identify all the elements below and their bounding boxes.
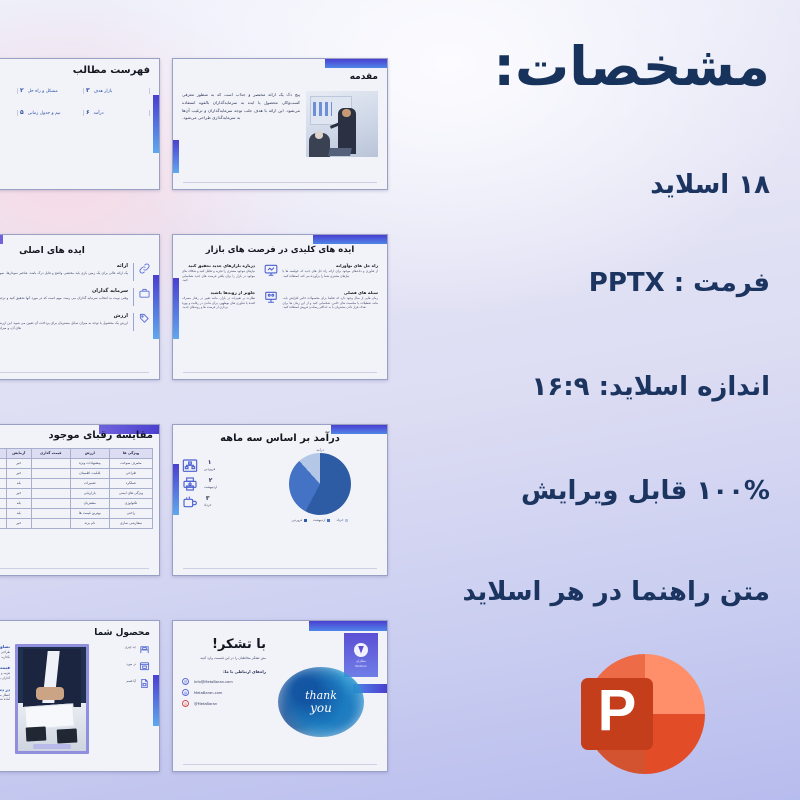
table-cell: کم xyxy=(0,498,6,508)
table-cell xyxy=(31,498,70,508)
table-cell: خیر xyxy=(6,489,31,499)
legend-entry: فروردین xyxy=(292,518,307,522)
item-text: نیازهای موجود مشتری را تجزیه و تحلیل کنی… xyxy=(182,269,255,283)
slide-thumbnail-your-product[interactable]: محصول شما چه چیزی xyxy=(0,620,160,772)
watercolor-splash: thank you xyxy=(278,667,364,737)
table-cell: راحتی xyxy=(109,508,152,518)
contact-label: راه‌های ارتباطی با ما: xyxy=(182,669,266,674)
table-cell xyxy=(31,489,70,499)
table-header-cell: نمایشگی xyxy=(0,449,6,459)
table-row: طراحیقابلیت اطمینانخیرکم۱۵% xyxy=(0,469,153,479)
table-row: سفارشی سازینام برندخیرکم۱۵% xyxy=(0,518,153,528)
item-text: انتظار می رود محصول چه زمانی آماده شود؟ xyxy=(0,693,10,702)
main-idea-item: ارزش ارزش یک محصول با توجه به میزان تمای… xyxy=(0,313,150,331)
logo-title: متاباران xyxy=(356,659,366,663)
table-row: مصرف سوختپیشنهادات ویژهخیرکم۱۸% xyxy=(0,459,153,469)
table-cell xyxy=(31,469,70,479)
toc-label: تیم و جدول زمانی xyxy=(28,110,61,116)
legend-entry: اردیبهشت xyxy=(313,518,330,522)
specs-panel: مشخصات: ۱۸ اسلاید فرمت : PPTX اندازه اسل… xyxy=(330,40,770,605)
table-header-cell: ویژگی ها xyxy=(109,449,152,459)
slide-thumbnail-competitor-comparison[interactable]: مقایسه رقبای موجود ویژگی ها ارزش قیمت گذ… xyxy=(0,424,160,576)
table-cell: مشتریان xyxy=(70,498,109,508)
table-cell: خیر xyxy=(6,469,31,479)
contact-text: MetaBaran.com xyxy=(194,691,222,695)
spec-format: فرمت : PPTX xyxy=(330,270,770,296)
table-cell: خیر xyxy=(6,518,31,528)
table-cell: بله xyxy=(6,479,31,489)
slide-title: با تشکر! xyxy=(182,637,266,652)
product-right-column: تصاویر طراحی محصول خود را به نمایش بگذار… xyxy=(0,644,10,708)
item-heading: ارائه xyxy=(0,263,128,269)
table-cell: بله xyxy=(6,508,31,518)
market-item: جلوتر از روندها باشید نظارت بر تغییرات د… xyxy=(182,290,278,310)
list-item: ۳ خرداد xyxy=(182,494,254,508)
item-heading: تصاویر xyxy=(0,644,10,649)
screenshot-root: فهرست مطالب بازار هدف ۳ مشکل و راه حل ۲ … xyxy=(0,0,800,800)
table-header-row: ویژگی ها ارزش قیمت گذاری آزمایش نمایشگی … xyxy=(0,449,153,459)
table-cell: ویژگی های ایمنی xyxy=(109,489,152,499)
product-item: در دسترس بودن انتظار می رود محصول چه زما… xyxy=(0,687,10,702)
item-text: نظارت بر تغییرات در بازار، مانند تغییر د… xyxy=(182,296,255,310)
product-item: در مورد xyxy=(94,661,150,672)
item-heading: در دسترس بودن xyxy=(0,687,10,692)
spec-slide-count: ۱۸ اسلاید xyxy=(330,172,770,198)
printer-icon xyxy=(182,476,198,490)
table-cell: پیشنهادات ویژه xyxy=(70,459,109,469)
item-heading: سرمایه گذاران xyxy=(0,288,128,294)
table-cell: مصرف سوخت xyxy=(109,459,152,469)
main-idea-item: سرمایه گذاران وقتی نوبت به انتخاب سرمایه… xyxy=(0,288,150,306)
table-row: راحتیبهترین قیمت هابلهبالا۳۰% xyxy=(0,508,153,518)
toc-item: محصول ۴ xyxy=(0,110,18,116)
item-text: یک ارائه عالی برای یک زمین بازی باید مخت… xyxy=(0,271,128,282)
table-cell: بله xyxy=(6,498,31,508)
table-row: تکنولوژیمشتریانبلهکم۱۰% xyxy=(0,498,153,508)
item-heading: قیمت xyxy=(0,665,10,670)
table-cell xyxy=(31,459,70,469)
slide-thumbnail-main-ideas[interactable]: ایده های اصلی ارائه یک ارائه عالی برای ی… xyxy=(0,234,160,380)
instagram-icon: ◎ xyxy=(182,700,189,707)
slide-title: محصول شما xyxy=(0,628,150,638)
toc-label: درآمد xyxy=(94,110,104,116)
mug-icon xyxy=(182,494,198,508)
globe-icon: ◍ xyxy=(182,689,189,696)
contact-text: Info@MetaBaran.com xyxy=(194,680,233,684)
product-left-column: چه چیزی در مورد آی xyxy=(94,644,150,695)
logo-mark xyxy=(354,643,368,657)
item-heading: ارزش xyxy=(0,313,128,319)
list-item: ۲ اردیبهشت xyxy=(182,476,254,490)
toc-item: تیم و جدول زمانی ۵ xyxy=(20,110,84,116)
table-cell: عملکرد xyxy=(109,479,152,489)
table-cell: بالا xyxy=(0,489,6,499)
spec-editable: ۱۰۰% قابل ویرایش xyxy=(330,478,770,504)
item-text: وقتی نوبت به انتخاب سرمایه گذاران می رسد… xyxy=(0,296,128,307)
table-cell: خیر xyxy=(6,459,31,469)
shelf-icon xyxy=(139,644,150,655)
item-heading: جلوتر از روندها باشید xyxy=(182,290,255,295)
table-cell xyxy=(31,479,70,489)
product-item: تصاویر طراحی محصول خود را به نمایش بگذار… xyxy=(0,644,10,659)
table-header-cell: ارزش xyxy=(70,449,109,459)
presentation-icon xyxy=(264,263,278,275)
toc-number: ۶ xyxy=(86,110,90,116)
toc-number: ۲ xyxy=(20,88,24,94)
table-cell: کم xyxy=(0,459,6,469)
splash-line-2: you xyxy=(310,702,332,714)
org-chart-icon xyxy=(182,458,198,472)
contact-item: MetaBaran.com ◍ xyxy=(182,689,266,696)
product-item: آیا قسم xyxy=(94,678,150,689)
page-title: مشخصات: xyxy=(330,40,770,94)
table-cell xyxy=(31,508,70,518)
doc-icon xyxy=(139,678,150,689)
toc-item: بازار هدف ۳ xyxy=(86,88,150,94)
table-cell: نام برند xyxy=(70,518,109,528)
slide-thumbnail-thank-you[interactable]: متاباران MetaBaran thank you با تشکر! م xyxy=(172,620,388,772)
toc-number: ۳ xyxy=(86,88,90,94)
table-cell: بازاریابی xyxy=(70,489,109,499)
table-cell: بهترین قیمت ها xyxy=(70,508,109,518)
table-cell: قابلیت اطمینان xyxy=(70,469,109,479)
table-cell: کم xyxy=(0,518,6,528)
contact-item: Info@MetaBaran.com @ xyxy=(182,678,266,685)
spec-guide-text: متن راهنما در هر اسلاید xyxy=(330,579,770,605)
list-item: ۱ فروردین xyxy=(182,458,254,472)
item-text: طراحی محصول خود را به نمایش بگذارید xyxy=(0,650,10,659)
window-icon xyxy=(139,661,150,672)
thankyou-artwork: متاباران MetaBaran thank you xyxy=(270,631,378,711)
table-cell: سفارشی سازی xyxy=(109,518,152,528)
toc-item: مشکل و راه حل ۲ xyxy=(20,88,84,94)
contact-list: Info@MetaBaran.com @ MetaBaran.com ◍ @Me… xyxy=(182,678,266,707)
contact-text: @MetaBaran xyxy=(194,702,217,706)
toc-item: درآمد ۶ xyxy=(86,110,150,116)
spec-slide-size: اندازه اسلاید: ۱۶:۹ xyxy=(330,374,770,400)
main-idea-item: ارائه یک ارائه عالی برای یک زمین بازی با… xyxy=(0,263,150,281)
item-heading: درباره بازارهای جدید تحقیق کنید xyxy=(182,263,255,268)
product-item: چه چیزی xyxy=(94,644,150,655)
table-cell: بالا xyxy=(0,479,6,489)
table-header-cell: آزمایش xyxy=(6,449,31,459)
powerpoint-logo: P xyxy=(573,648,705,780)
intro-text: پیچ دک یک ارائه مختصر و جذاب است که به م… xyxy=(182,91,300,122)
slide-thumbnail-table-of-contents[interactable]: فهرست مطالب بازار هدف ۳ مشکل و راه حل ۲ … xyxy=(0,58,160,190)
slide-title: ایده های اصلی xyxy=(0,246,150,256)
toc-label: بازار هدف xyxy=(94,88,113,94)
product-item: قیمت هزینه و قیمت را با سرمایه گذاران به… xyxy=(0,665,10,680)
slide-title: مقایسه رقبای موجود xyxy=(0,430,153,441)
product-photo xyxy=(15,644,89,754)
powerpoint-logo-letter: P xyxy=(598,678,637,743)
table-header-cell: قیمت گذاری xyxy=(31,449,70,459)
briefcase-icon xyxy=(139,288,150,299)
chart-caption: درآمد xyxy=(316,448,324,452)
board-icon xyxy=(264,290,278,302)
slide-subtitle: متن تشکر مخاطبان را در این قسمت وارد کنی… xyxy=(182,656,266,660)
link-icon xyxy=(139,263,150,274)
table-cell: طراحی xyxy=(109,469,152,479)
toc-label: مشکل و راه حل xyxy=(28,88,58,94)
competitor-table: ویژگی ها ارزش قیمت گذاری آزمایش نمایشگی … xyxy=(0,448,153,529)
splash-line-1: thank xyxy=(305,690,337,701)
revenue-month-list: ۱ فروردین ۲ اردیبهشت xyxy=(182,458,254,512)
contact-item: @MetaBaran ◎ xyxy=(182,700,266,707)
mail-icon: @ xyxy=(182,678,189,685)
table-cell: کم xyxy=(0,469,6,479)
table-cell: تعمیرات xyxy=(70,479,109,489)
toc-item: معرفی برند ۱ xyxy=(0,88,18,94)
tag-icon xyxy=(139,313,150,324)
item-text: هزینه و قیمت را با سرمایه گذاران به اشتر… xyxy=(0,671,10,680)
item-text: ارزش یک محصول با توجه به میزان تمایل مشت… xyxy=(0,321,128,332)
table-cell xyxy=(31,518,70,528)
slide-title: فهرست مطالب xyxy=(0,65,150,76)
table-cell: بالا xyxy=(0,508,6,518)
table-body: مصرف سوختپیشنهادات ویژهخیرکم۱۸%طراحیقابل… xyxy=(0,459,153,529)
toc-number: ۵ xyxy=(20,110,24,116)
table-cell: تکنولوژی xyxy=(109,498,152,508)
market-item: درباره بازارهای جدید تحقیق کنید نیازهای … xyxy=(182,263,278,283)
table-row: ویژگی های ایمنیبازاریابیخیربالا۲۲% xyxy=(0,489,153,499)
toc-grid: بازار هدف ۳ مشکل و راه حل ۲ معرفی برند ۱… xyxy=(0,88,150,116)
table-row: عملکردتعمیراتبلهبالا۲۰% xyxy=(0,479,153,489)
